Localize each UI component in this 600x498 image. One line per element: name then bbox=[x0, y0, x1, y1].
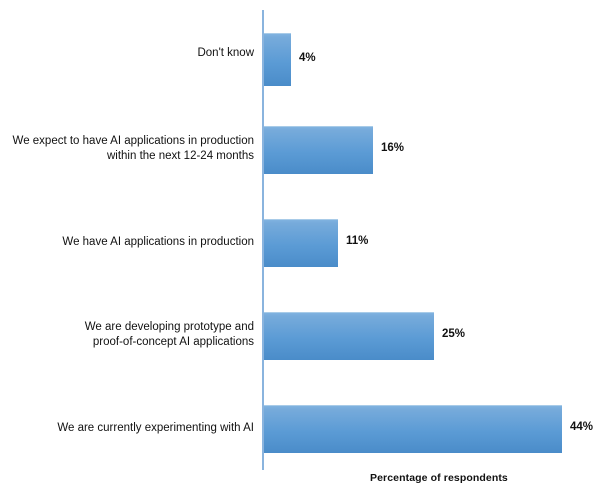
bar-segment bbox=[264, 405, 562, 453]
plot-area: Don't know 4% We expect to have AI appli… bbox=[0, 0, 600, 498]
bar-value-label: 4% bbox=[299, 52, 316, 64]
bar-value-label: 11% bbox=[346, 235, 368, 247]
bar-value-label: 44% bbox=[570, 421, 593, 433]
category-label: We are currently experimenting with AI bbox=[0, 421, 254, 436]
bar-segment bbox=[264, 219, 338, 267]
bar-chart: Don't know 4% We expect to have AI appli… bbox=[0, 0, 600, 498]
bar-value-label: 16% bbox=[381, 142, 404, 154]
x-axis-title: Percentage of respondents bbox=[370, 472, 508, 484]
category-label: We have AI applications in production bbox=[0, 235, 254, 250]
bar-segment bbox=[264, 33, 291, 86]
category-label: We are developing prototype and proof-of… bbox=[0, 320, 254, 350]
category-label: We expect to have AI applications in pro… bbox=[0, 134, 254, 164]
bar-segment bbox=[264, 312, 434, 360]
category-label: Don't know bbox=[0, 46, 254, 61]
bar-segment bbox=[264, 126, 373, 174]
bar-value-label: 25% bbox=[442, 328, 465, 340]
